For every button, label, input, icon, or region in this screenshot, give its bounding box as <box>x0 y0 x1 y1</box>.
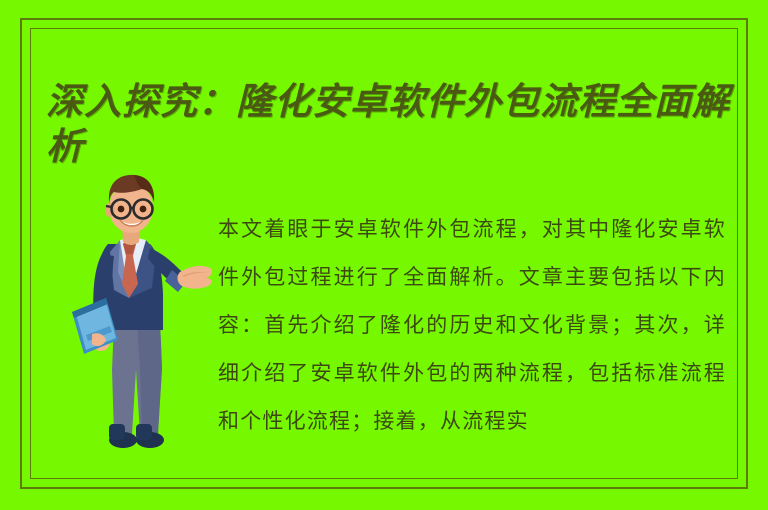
businessman-illustration <box>62 172 224 472</box>
page-title: 深入探究：隆化安卓软件外包流程全面解析 <box>46 79 746 169</box>
poster-canvas: 深入探究：隆化安卓软件外包流程全面解析 <box>0 0 768 510</box>
body-paragraph: 本文着眼于安卓软件外包流程，对其中隆化安卓软件外包过程进行了全面解析。文章主要包… <box>218 205 726 505</box>
